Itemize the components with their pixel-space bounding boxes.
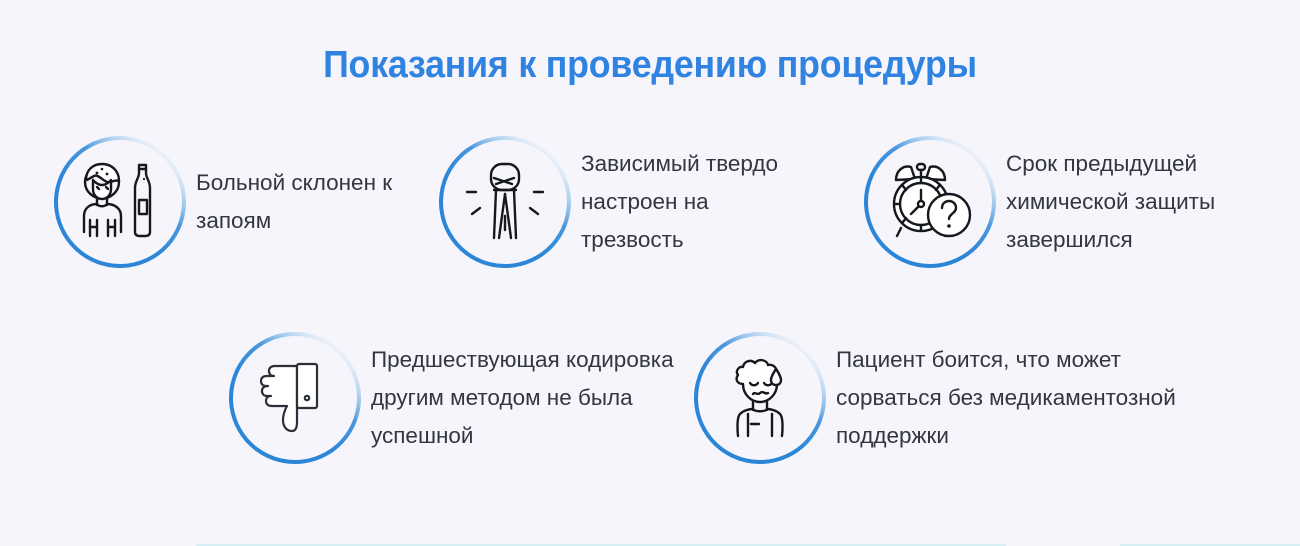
indication-card-5-label: Пациент боится, что может сорваться без … [836,341,1196,455]
indication-card-2: Зависимый твердо настроен на трезвость [437,134,837,270]
page-title: Показания к проведению процедуры [39,44,1261,87]
indication-card-3: Срок предыдущей химической защиты заверш… [862,134,1282,270]
indication-card-2-label: Зависимый твердо настроен на трезвость [581,145,813,259]
indication-card-1: Больной склонен к запоям [52,134,452,270]
indication-card-1-label: Больной склонен к запоям [196,164,434,240]
alarm-clock-question-icon [862,134,998,270]
infographic-page: Показания к проведению процедуры [0,0,1300,546]
indication-card-4: Предшествующая кодировка другим методом … [227,330,697,466]
icon-ring-2 [437,134,573,270]
worried-person-icon [692,330,828,466]
person-with-bottle-icon [52,134,188,270]
icon-ring-5 [692,330,828,466]
determined-person-icon [437,134,573,270]
icon-ring-4 [227,330,363,466]
indication-card-5: Пациент боится, что может сорваться без … [692,330,1232,466]
icon-ring-3 [862,134,998,270]
indication-card-3-label: Срок предыдущей химической защиты заверш… [1006,145,1266,259]
indication-card-4-label: Предшествующая кодировка другим методом … [371,341,697,455]
thumbs-down-icon [227,330,363,466]
icon-ring-1 [52,134,188,270]
